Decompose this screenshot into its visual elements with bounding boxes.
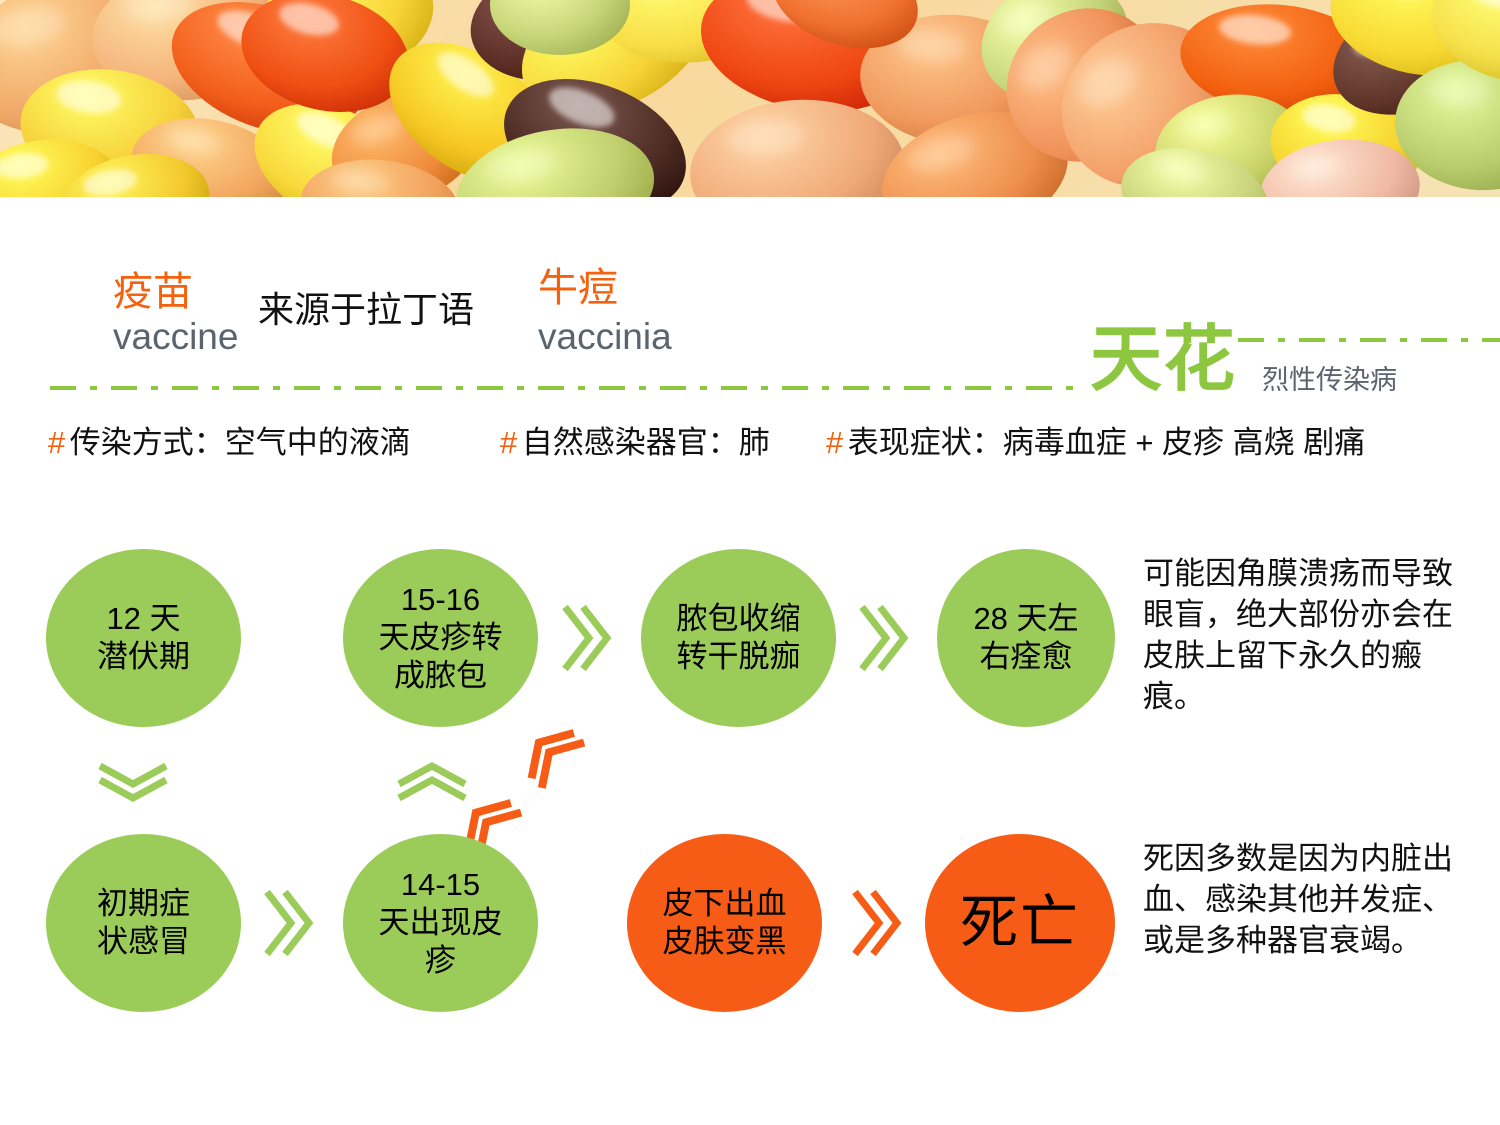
slide-root: 疫苗 vaccine 来源于拉丁语 牛痘 vaccinia 天花 烈性传染病 #… xyxy=(0,0,1500,1125)
chevron-right-icon-2 xyxy=(858,601,904,675)
header-divider-right xyxy=(1238,338,1500,342)
note-death: 死因多数是因为内脏出血、感染其他并发症、或是多种器官衰竭。 xyxy=(1143,838,1473,961)
chevron-right-icon-1 xyxy=(561,601,607,675)
stage-death-label: 死亡 xyxy=(952,892,1088,954)
derivation-label: 来源于拉丁语 xyxy=(258,288,474,332)
hash-icon: # xyxy=(500,425,517,460)
stage-recovery-label: 28 天左右痊愈 xyxy=(965,600,1086,676)
pills-photo xyxy=(0,0,1500,197)
page-title: 天花 xyxy=(1090,322,1236,398)
fact-symptoms-text: 表现症状：病毒血症 + 皮疹 高烧 剧痛 xyxy=(848,425,1366,460)
header-divider-left xyxy=(50,386,1080,390)
stage-initial-symptoms[interactable]: 初期症状感冒 xyxy=(46,834,241,1012)
stage-recovery[interactable]: 28 天左右痊愈 xyxy=(937,549,1115,727)
chevron-up-icon xyxy=(395,762,469,802)
stage-rash-onset[interactable]: 14-15天出现皮疹 xyxy=(343,834,538,1012)
stage-scab[interactable]: 脓包收缩转干脱痂 xyxy=(641,549,836,727)
cowpox-cn-label: 牛痘 xyxy=(538,266,618,310)
chevron-right-icon-4 xyxy=(851,886,897,960)
fact-symptoms: # 表现症状：病毒血症 + 皮疹 高烧 剧痛 xyxy=(826,422,1476,463)
hash-icon: # xyxy=(48,425,65,460)
stage-rash-to-pustule-label: 15-16天皮疹转成脓包 xyxy=(371,581,511,695)
stage-rash-to-pustule[interactable]: 15-16天皮疹转成脓包 xyxy=(343,549,538,727)
cowpox-latin-label: vaccinia xyxy=(538,315,668,359)
vaccine-cn-label: 疫苗 xyxy=(113,270,193,314)
fact-transmission: # 传染方式：空气中的液滴 xyxy=(48,422,518,463)
chevron-down-icon xyxy=(96,762,170,802)
chevron-right-icon-3 xyxy=(263,886,309,960)
fact-organ-text: 自然感染器官：肺 xyxy=(522,425,770,460)
stage-hemorrhage[interactable]: 皮下出血皮肤变黑 xyxy=(627,834,822,1012)
stage-death[interactable]: 死亡 xyxy=(925,834,1115,1012)
fact-transmission-text: 传染方式：空气中的液滴 xyxy=(70,425,411,460)
stage-incubation[interactable]: 12 天潜伏期 xyxy=(46,549,241,727)
stage-scab-label: 脓包收缩转干脱痂 xyxy=(669,600,809,676)
note-recovery: 可能因角膜溃疡而导致眼盲，绝大部份亦会在皮肤上留下永久的瘢痕。 xyxy=(1143,553,1473,717)
stage-hemorrhage-label: 皮下出血皮肤变黑 xyxy=(655,885,795,961)
page-subtitle: 烈性传染病 xyxy=(1262,365,1397,395)
hash-icon: # xyxy=(826,425,843,460)
fact-organ: # 自然感染器官：肺 xyxy=(500,422,840,463)
stage-incubation-label: 12 天潜伏期 xyxy=(89,600,198,676)
chevron-up-right-icon-1 xyxy=(514,716,590,793)
stage-initial-symptoms-label: 初期症状感冒 xyxy=(89,885,198,961)
vaccine-latin-label: vaccine xyxy=(113,315,243,359)
stage-rash-onset-label: 14-15天出现皮疹 xyxy=(371,866,511,980)
